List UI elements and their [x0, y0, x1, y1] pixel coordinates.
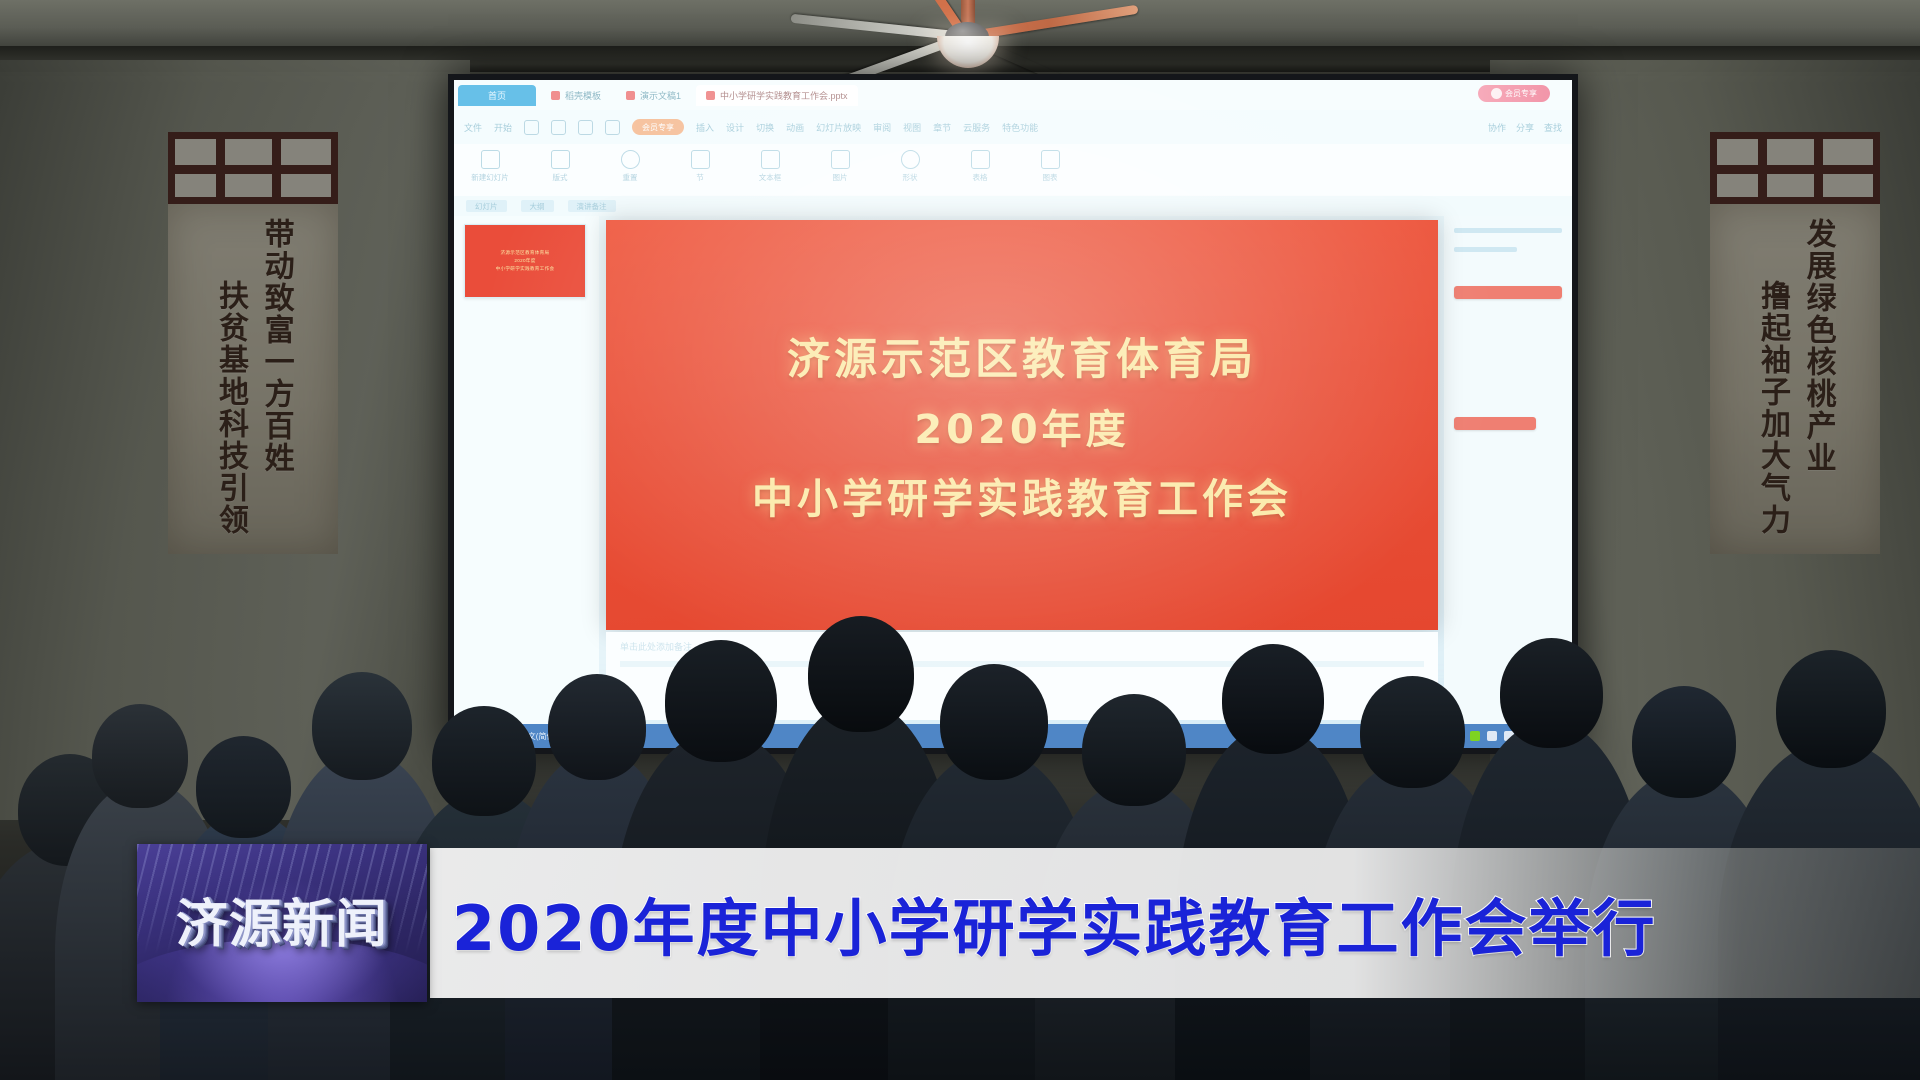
ribbon-collaborate[interactable]: 协作 [1488, 121, 1506, 134]
toolbar-shape-label: 形状 [903, 172, 918, 183]
design-panel[interactable] [1444, 216, 1572, 724]
member-button-label: 会员专享 [1505, 88, 1537, 99]
ribbon-member-pill[interactable]: 会员专享 [632, 119, 684, 135]
toolbar-new-slide[interactable]: 新建幻灯片 [468, 150, 512, 183]
scroll-right-column-inner: 撸起袖子加大气力 [1755, 280, 1789, 536]
app-status-bar: 幻灯片 1 / 1 中文(简体) 100% [454, 724, 1572, 748]
toolbar-layout[interactable]: 版式 [538, 150, 582, 183]
crown-icon [1491, 88, 1502, 99]
table-icon [971, 150, 990, 169]
design-panel-divider [1454, 228, 1562, 233]
speaker-notes-area[interactable]: 单击此处添加备注 [606, 632, 1438, 720]
shape-icon [901, 150, 920, 169]
slide-content[interactable]: 济源示范区教育体育局 2020年度 中小学研学实践教育工作会 [606, 220, 1438, 630]
scroll-left-column-outer: 带动致富一方百姓 [259, 218, 293, 536]
print-icon[interactable] [605, 120, 620, 135]
reading-view-icon[interactable] [1521, 731, 1531, 741]
template-icon [551, 91, 560, 100]
chip-slides[interactable]: 幻灯片 [466, 200, 507, 212]
design-panel-divider [1454, 247, 1517, 252]
reset-icon [621, 150, 640, 169]
tab-home-label: 首页 [488, 89, 506, 102]
toolbar-shape[interactable]: 形状 [888, 150, 932, 183]
toolbar-section-label: 节 [696, 172, 704, 183]
slide-canvas[interactable]: 济源示范区教育体育局 2020年度 中小学研学实践教育工作会 [606, 220, 1438, 630]
chip-outline[interactable]: 大纲 [521, 200, 554, 212]
ribbon-item-insert[interactable]: 插入 [696, 121, 714, 134]
toolbar-layout-label: 版式 [553, 172, 568, 183]
tab-active-document-label: 中小学研学实践教育工作会.pptx [720, 89, 848, 102]
toolbar-chart-label: 图表 [1043, 172, 1058, 183]
headline-text: 2020年度中小学研学实践教育工作会举行 [452, 878, 1657, 968]
scroll-left-column-inner: 扶贫基地科技引领 [213, 280, 247, 536]
toolbar-new-slide-label: 新建幻灯片 [471, 172, 509, 183]
toolbar-reset[interactable]: 重置 [608, 150, 652, 183]
sorter-view-icon[interactable] [1504, 731, 1514, 741]
slide-thumbnail-1[interactable]: 济源示范区教育体育局 2020年度 中小学研学实践教育工作会 [464, 224, 586, 298]
speaker-notes-placeholder: 单击此处添加备注 [620, 640, 1424, 653]
app-toolbar: 新建幻灯片 版式 重置 节 文本框 [454, 144, 1572, 196]
ribbon-share[interactable]: 分享 [1516, 121, 1534, 134]
chip-notes[interactable]: 演讲备注 [568, 200, 616, 212]
thumb-line-3: 中小学研学实践教育工作会 [496, 266, 555, 272]
app-view-switch-bar: 幻灯片 大纲 演讲备注 [454, 196, 1572, 216]
status-slide-count: 幻灯片 1 / 1 [468, 731, 510, 742]
calligraphy-scroll-right: 发展绿色核桃产业 撸起袖子加大气力 [1710, 132, 1880, 554]
toolbar-table-label: 表格 [973, 172, 988, 183]
toolbar-table[interactable]: 表格 [958, 150, 1002, 183]
app-tab-bar: 首页 稻壳模板 演示文稿1 中小学研学实践教育工作会.pptx 会员专享 [454, 80, 1572, 110]
ribbon-item-transition[interactable]: 切换 [756, 121, 774, 134]
save-icon[interactable] [578, 120, 593, 135]
layout-icon [551, 150, 570, 169]
headline-banner: 2020年度中小学研学实践教育工作会举行 [430, 848, 1920, 998]
lower-third-graphic: 2020年度中小学研学实践教育工作会举行 济源新闻 [0, 820, 1920, 1080]
presentation-icon [706, 91, 715, 100]
section-icon [691, 150, 710, 169]
ribbon-find[interactable]: 查找 [1544, 121, 1562, 134]
picture-icon [831, 150, 850, 169]
app-ribbon: 文件 开始 会员专享 插入 设计 切换 动画 幻灯片放映 审阅 视图 章节 云服… [454, 110, 1572, 144]
ribbon-item-file[interactable]: 文件 [464, 121, 482, 134]
undo-icon[interactable] [524, 120, 539, 135]
scroll-ornament-header [168, 132, 338, 204]
new-slide-icon [481, 150, 500, 169]
ribbon-item-slideshow[interactable]: 幻灯片放映 [816, 121, 861, 134]
channel-logo: 济源新闻 [137, 844, 427, 1002]
presentation-icon [626, 91, 635, 100]
redo-icon[interactable] [551, 120, 566, 135]
thumb-line-1: 济源示范区教育体育局 [501, 250, 550, 256]
tab-templates[interactable]: 稻壳模板 [541, 85, 611, 106]
ribbon-item-cloud[interactable]: 云服务 [963, 121, 990, 134]
notes-ruler [620, 661, 1424, 667]
toolbar-section[interactable]: 节 [678, 150, 722, 183]
ribbon-item-home[interactable]: 开始 [494, 121, 512, 134]
tab-home[interactable]: 首页 [458, 85, 536, 106]
toolbar-chart[interactable]: 图表 [1028, 150, 1072, 183]
calligraphy-scroll-left: 带动致富一方百姓 扶贫基地科技引领 [168, 132, 338, 554]
slide-title-line-1: 济源示范区教育体育局 [787, 325, 1257, 387]
slideshow-icon[interactable] [1470, 731, 1480, 741]
tab-templates-label: 稻壳模板 [565, 89, 601, 102]
ribbon-item-review[interactable]: 审阅 [873, 121, 891, 134]
slide-title-line-2: 2020年度 [914, 397, 1129, 455]
toolbar-textbox[interactable]: 文本框 [748, 150, 792, 183]
textbox-icon [761, 150, 780, 169]
ribbon-item-animation[interactable]: 动画 [786, 121, 804, 134]
toolbar-picture-label: 图片 [833, 172, 848, 183]
toolbar-reset-label: 重置 [623, 172, 638, 183]
tab-active-document[interactable]: 中小学研学实践教育工作会.pptx [696, 85, 858, 106]
status-zoom[interactable]: 100% [1538, 732, 1558, 741]
member-button[interactable]: 会员专享 [1478, 85, 1550, 102]
slide-thumbnail-panel[interactable]: 济源示范区教育体育局 2020年度 中小学研学实践教育工作会 [454, 216, 599, 724]
slide-title-line-3: 中小学研学实践教育工作会 [752, 465, 1292, 525]
design-refresh-button[interactable] [1454, 417, 1536, 430]
ribbon-item-section[interactable]: 章节 [933, 121, 951, 134]
fan-light-icon [937, 36, 999, 68]
thumb-line-2: 2020年度 [514, 258, 535, 264]
normal-view-icon[interactable] [1487, 731, 1497, 741]
ribbon-item-features[interactable]: 特色功能 [1002, 121, 1038, 134]
ribbon-item-design[interactable]: 设计 [726, 121, 744, 134]
chart-icon [1041, 150, 1060, 169]
projected-desktop: 首页 稻壳模板 演示文稿1 中小学研学实践教育工作会.pptx 会员专享 [454, 80, 1572, 748]
ceiling-fan-icon [805, 0, 1125, 72]
toolbar-textbox-label: 文本框 [759, 172, 782, 183]
channel-logo-text: 济源新闻 [137, 882, 427, 957]
tab-presentation-1[interactable]: 演示文稿1 [616, 85, 691, 106]
projection-screen: 首页 稻壳模板 演示文稿1 中小学研学实践教育工作会.pptx 会员专享 [448, 74, 1578, 754]
scroll-right-column-outer: 发展绿色核桃产业 [1801, 218, 1835, 536]
ribbon-item-view[interactable]: 视图 [903, 121, 921, 134]
broadcast-frame: 带动致富一方百姓 扶贫基地科技引领 发展绿色核桃产业 撸起袖子加大气力 首页 稻… [0, 0, 1920, 1080]
status-language: 中文(简体) [520, 731, 557, 742]
design-apply-button[interactable] [1454, 286, 1562, 299]
toolbar-picture[interactable]: 图片 [818, 150, 862, 183]
scroll-ornament-header [1710, 132, 1880, 204]
tab-presentation-1-label: 演示文稿1 [640, 89, 681, 102]
